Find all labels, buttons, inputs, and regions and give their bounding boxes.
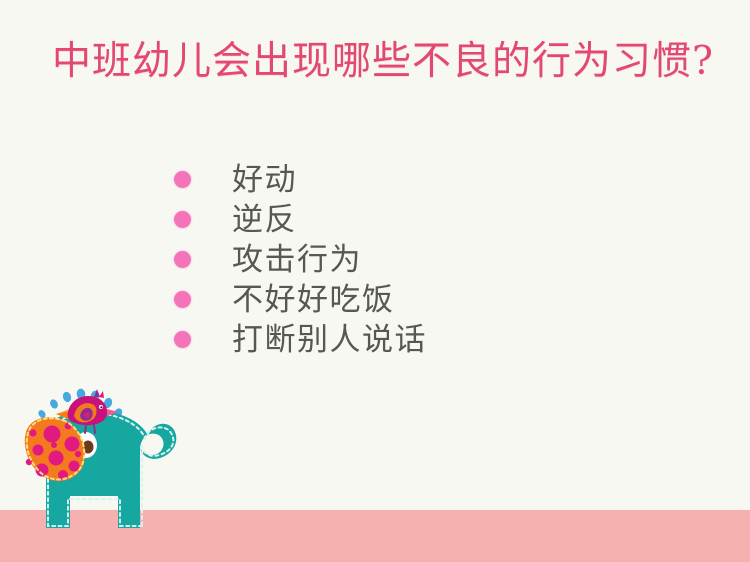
list-item: 打断别人说话 <box>168 320 588 360</box>
bullet-label: 不好好吃饭 <box>232 280 395 320</box>
list-item: 攻击行为 <box>168 240 588 280</box>
slide-canvas: 中班幼儿会出现哪些不良的行为习惯? 好动 逆反 攻击行为 不好好吃饭 打断别人说… <box>0 0 750 562</box>
bullet-dot-icon <box>174 211 191 228</box>
page-title: 中班幼儿会出现哪些不良的行为习惯? <box>52 38 712 86</box>
bullet-list: 好动 逆反 攻击行为 不好好吃饭 打断别人说话 <box>168 160 588 360</box>
elephant-illustration <box>8 378 208 538</box>
bullet-label: 好动 <box>232 160 297 200</box>
bullet-dot-icon <box>174 331 191 348</box>
bullet-label: 攻击行为 <box>232 240 362 280</box>
bullet-label: 逆反 <box>232 200 297 240</box>
list-item: 不好好吃饭 <box>168 280 588 320</box>
bullet-label: 打断别人说话 <box>232 320 427 360</box>
bullet-dot-icon <box>174 291 191 308</box>
bullet-dot-icon <box>174 251 191 268</box>
bullet-dot-icon <box>174 171 191 188</box>
list-item: 逆反 <box>168 200 588 240</box>
list-item: 好动 <box>168 160 588 200</box>
